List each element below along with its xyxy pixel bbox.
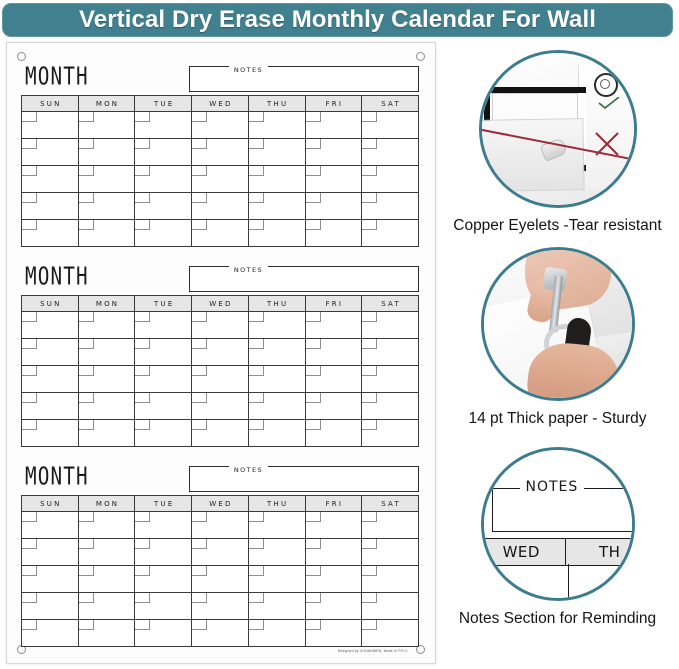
day-cell[interactable] <box>362 512 419 539</box>
date-number-box <box>306 193 321 203</box>
day-cell[interactable] <box>192 312 249 339</box>
day-cell[interactable] <box>362 339 419 366</box>
date-number-box <box>249 139 264 149</box>
date-number-box <box>362 512 377 522</box>
day-cell[interactable] <box>305 166 362 193</box>
day-cell[interactable] <box>362 393 419 420</box>
day-header-sun: SUN <box>22 496 79 512</box>
month-label: MONTH <box>25 462 89 490</box>
calendar-grid: SUN MON TUE WED THU FRI SAT <box>21 95 419 247</box>
day-header-thu: THU <box>248 96 305 112</box>
date-number-box <box>306 112 321 122</box>
date-number-box <box>135 593 150 603</box>
date-number-box <box>249 393 264 403</box>
day-cell[interactable] <box>362 620 419 647</box>
date-number-box <box>249 593 264 603</box>
day-cell[interactable] <box>248 166 305 193</box>
date-number-box <box>306 539 321 549</box>
date-number-box <box>362 420 377 430</box>
day-cell[interactable] <box>135 193 192 220</box>
date-number-box <box>306 566 321 576</box>
date-number-box <box>249 339 264 349</box>
week-row <box>22 193 419 220</box>
day-cell[interactable] <box>362 593 419 620</box>
notes-label: NOTES <box>229 266 268 274</box>
date-number-box <box>22 112 37 122</box>
day-cell[interactable] <box>362 366 419 393</box>
date-number-box <box>22 193 37 203</box>
day-header-tue: TUE <box>135 296 192 312</box>
week-row <box>22 620 419 647</box>
day-cell[interactable] <box>78 166 135 193</box>
day-cell[interactable] <box>78 312 135 339</box>
date-number-box <box>22 539 37 549</box>
day-cell[interactable] <box>78 566 135 593</box>
feature-caption: Copper Eyelets -Tear resistant <box>436 217 679 235</box>
date-number-box <box>306 393 321 403</box>
day-cell[interactable] <box>248 220 305 247</box>
eyelet-icon <box>416 52 425 61</box>
day-cell[interactable] <box>78 539 135 566</box>
date-number-box <box>135 539 150 549</box>
product-listing-image: Vertical Dry Erase Monthly Calendar For … <box>0 0 679 669</box>
day-header-sat: SAT <box>362 296 419 312</box>
day-cell[interactable] <box>305 539 362 566</box>
month-block: MONTH NOTES SUN MON TUE WED THU FRI SAT <box>21 461 419 647</box>
day-cell[interactable] <box>135 593 192 620</box>
day-cell[interactable] <box>22 593 79 620</box>
day-cell[interactable] <box>135 139 192 166</box>
date-number-box <box>192 566 207 576</box>
day-cell[interactable] <box>192 112 249 139</box>
date-number-box <box>362 312 377 322</box>
date-number-box <box>22 420 37 430</box>
day-header-thu: THU <box>248 496 305 512</box>
day-cell[interactable] <box>248 339 305 366</box>
date-number-box <box>79 420 94 430</box>
date-number-box <box>22 566 37 576</box>
day-cell[interactable] <box>78 420 135 447</box>
grid-divider <box>568 564 570 600</box>
date-number-box <box>249 539 264 549</box>
day-cell[interactable] <box>192 566 249 593</box>
date-number-box <box>135 420 150 430</box>
day-cell[interactable] <box>192 193 249 220</box>
calendar-body <box>22 512 419 647</box>
day-cell[interactable] <box>248 112 305 139</box>
notes-box: NOTES <box>189 66 419 92</box>
week-row <box>22 166 419 193</box>
day-cell[interactable] <box>192 366 249 393</box>
day-cell[interactable] <box>192 620 249 647</box>
date-number-box <box>135 220 150 230</box>
feature-image-notes-section: NOTES WED TH <box>481 447 635 601</box>
date-number-box <box>249 566 264 576</box>
date-number-box <box>22 339 37 349</box>
date-number-box <box>362 112 377 122</box>
date-number-box <box>362 566 377 576</box>
day-cell[interactable] <box>362 539 419 566</box>
date-number-box <box>306 220 321 230</box>
date-number-box <box>192 512 207 522</box>
day-cell[interactable] <box>248 620 305 647</box>
day-cell[interactable] <box>135 366 192 393</box>
day-cell[interactable] <box>305 112 362 139</box>
date-number-box <box>249 512 264 522</box>
notes-box: NOTES <box>189 266 419 292</box>
date-number-box <box>306 512 321 522</box>
zoom-day-cell-wed: WED <box>481 539 567 565</box>
month-block-header: MONTH NOTES <box>21 461 419 493</box>
date-number-box <box>306 139 321 149</box>
notes-label: NOTES <box>229 466 268 474</box>
date-number-box <box>362 166 377 176</box>
date-number-box <box>79 166 94 176</box>
day-cell[interactable] <box>362 566 419 593</box>
date-number-box <box>362 339 377 349</box>
day-cell[interactable] <box>22 220 79 247</box>
week-row <box>22 512 419 539</box>
day-cell[interactable] <box>305 193 362 220</box>
month-block-header: MONTH NOTES <box>21 61 419 93</box>
day-cell[interactable] <box>305 593 362 620</box>
day-cell[interactable] <box>362 312 419 339</box>
date-number-box <box>192 539 207 549</box>
date-number-box <box>135 166 150 176</box>
date-number-box <box>135 620 150 630</box>
day-cell[interactable] <box>362 139 419 166</box>
date-number-box <box>306 593 321 603</box>
title-banner: Vertical Dry Erase Monthly Calendar For … <box>2 3 673 37</box>
calendar-grid: SUN MON TUE WED THU FRI SAT <box>21 495 419 647</box>
zoom-notes-label: NOTES <box>520 479 585 495</box>
day-cell[interactable] <box>135 393 192 420</box>
date-number-box <box>192 220 207 230</box>
day-cell[interactable] <box>248 366 305 393</box>
day-cell[interactable] <box>305 393 362 420</box>
zoom-day-header-row: WED TH <box>481 538 635 566</box>
day-cell[interactable] <box>305 620 362 647</box>
day-header-sun: SUN <box>22 296 79 312</box>
day-cell[interactable] <box>135 512 192 539</box>
week-row <box>22 593 419 620</box>
date-number-box <box>306 420 321 430</box>
day-cell[interactable] <box>248 593 305 620</box>
feature-thick-paper: 14 pt Thick paper - Sturdy <box>436 247 679 428</box>
notes-label: NOTES <box>229 66 268 74</box>
date-number-box <box>79 339 94 349</box>
day-header-row: SUN MON TUE WED THU FRI SAT <box>22 96 419 112</box>
feature-column: Copper Eyelets -Tear resistant 14 pt Thi… <box>436 42 679 662</box>
day-header-sun: SUN <box>22 96 79 112</box>
day-cell[interactable] <box>78 339 135 366</box>
calendar-poster: MONTH NOTES SUN MON TUE WED THU FRI SAT <box>6 42 436 664</box>
calendar-body <box>22 112 419 247</box>
feature-caption: 14 pt Thick paper - Sturdy <box>436 410 679 428</box>
day-cell[interactable] <box>305 339 362 366</box>
day-header-wed: WED <box>192 96 249 112</box>
date-number-box <box>192 166 207 176</box>
day-cell[interactable] <box>305 420 362 447</box>
month-block-header: MONTH NOTES <box>21 261 419 293</box>
week-row <box>22 220 419 247</box>
day-cell[interactable] <box>248 139 305 166</box>
week-row <box>22 366 419 393</box>
week-row <box>22 339 419 366</box>
date-number-box <box>362 539 377 549</box>
day-cell[interactable] <box>135 220 192 247</box>
day-cell[interactable] <box>78 366 135 393</box>
date-number-box <box>79 312 94 322</box>
date-number-box <box>22 312 37 322</box>
date-number-box <box>192 312 207 322</box>
date-number-box <box>135 112 150 122</box>
date-number-box <box>249 112 264 122</box>
week-row <box>22 112 419 139</box>
day-cell[interactable] <box>22 112 79 139</box>
date-number-box <box>135 393 150 403</box>
day-cell[interactable] <box>192 139 249 166</box>
feature-copper-eyelets: Copper Eyelets -Tear resistant <box>436 50 679 235</box>
date-number-box <box>362 366 377 376</box>
day-cell[interactable] <box>22 312 79 339</box>
day-cell[interactable] <box>135 112 192 139</box>
day-cell[interactable] <box>135 312 192 339</box>
day-cell[interactable] <box>22 166 79 193</box>
date-number-box <box>135 366 150 376</box>
date-number-box <box>306 366 321 376</box>
date-number-box <box>192 393 207 403</box>
day-header-thu: THU <box>248 296 305 312</box>
day-cell[interactable] <box>192 593 249 620</box>
day-cell[interactable] <box>248 512 305 539</box>
day-cell[interactable] <box>135 339 192 366</box>
day-cell[interactable] <box>22 539 79 566</box>
date-number-box <box>249 620 264 630</box>
day-cell[interactable] <box>22 193 79 220</box>
date-number-box <box>249 166 264 176</box>
date-number-box <box>192 620 207 630</box>
day-cell[interactable] <box>135 620 192 647</box>
day-header-fri: FRI <box>305 96 362 112</box>
day-header-tue: TUE <box>135 496 192 512</box>
day-cell[interactable] <box>248 566 305 593</box>
day-cell[interactable] <box>192 512 249 539</box>
date-number-box <box>192 339 207 349</box>
day-cell[interactable] <box>135 420 192 447</box>
date-number-box <box>22 512 37 522</box>
date-number-box <box>192 366 207 376</box>
month-block: MONTH NOTES SUN MON TUE WED THU FRI SAT <box>21 261 419 447</box>
date-number-box <box>362 220 377 230</box>
footer-credit: Designed by XUHANWEN. Made in P.R.C. <box>338 649 409 653</box>
date-number-box <box>135 139 150 149</box>
day-header-fri: FRI <box>305 496 362 512</box>
date-number-box <box>362 593 377 603</box>
day-cell[interactable] <box>248 539 305 566</box>
feature-image-thick-paper <box>481 247 635 401</box>
day-cell[interactable] <box>78 593 135 620</box>
date-number-box <box>22 366 37 376</box>
date-number-box <box>362 393 377 403</box>
day-cell[interactable] <box>192 220 249 247</box>
date-number-box <box>306 166 321 176</box>
date-number-box <box>306 339 321 349</box>
month-block: MONTH NOTES SUN MON TUE WED THU FRI SAT <box>21 61 419 247</box>
day-cell[interactable] <box>78 193 135 220</box>
date-number-box <box>22 620 37 630</box>
day-cell[interactable] <box>22 420 79 447</box>
day-header-row: SUN MON TUE WED THU FRI SAT <box>22 296 419 312</box>
day-cell[interactable] <box>78 112 135 139</box>
day-cell[interactable] <box>192 420 249 447</box>
date-number-box <box>135 312 150 322</box>
date-number-box <box>22 593 37 603</box>
day-cell[interactable] <box>135 166 192 193</box>
day-header-mon: MON <box>78 96 135 112</box>
week-row <box>22 393 419 420</box>
page-title: Vertical Dry Erase Monthly Calendar For … <box>79 6 596 34</box>
date-number-box <box>79 512 94 522</box>
day-header-fri: FRI <box>305 296 362 312</box>
date-number-box <box>135 339 150 349</box>
date-number-box <box>249 366 264 376</box>
feature-notes-section: NOTES WED TH Notes Section for Reminding <box>436 447 679 628</box>
week-row <box>22 312 419 339</box>
day-cell[interactable] <box>305 220 362 247</box>
feature-image-copper-eyelets <box>479 50 637 208</box>
day-cell[interactable] <box>248 193 305 220</box>
month-label: MONTH <box>25 262 89 290</box>
date-number-box <box>135 193 150 203</box>
date-number-box <box>306 620 321 630</box>
day-cell[interactable] <box>248 312 305 339</box>
date-number-box <box>22 166 37 176</box>
day-cell[interactable] <box>248 420 305 447</box>
notes-box: NOTES <box>189 466 419 492</box>
week-row <box>22 566 419 593</box>
date-number-box <box>192 112 207 122</box>
day-cell[interactable] <box>22 512 79 539</box>
day-cell[interactable] <box>305 566 362 593</box>
date-number-box <box>306 312 321 322</box>
day-cell[interactable] <box>22 393 79 420</box>
day-cell[interactable] <box>362 220 419 247</box>
week-row <box>22 420 419 447</box>
date-number-box <box>79 366 94 376</box>
day-cell[interactable] <box>22 339 79 366</box>
date-number-box <box>362 620 377 630</box>
day-cell[interactable] <box>305 139 362 166</box>
day-header-wed: WED <box>192 296 249 312</box>
calendar-grid: SUN MON TUE WED THU FRI SAT <box>21 295 419 447</box>
day-header-sat: SAT <box>362 96 419 112</box>
date-number-box <box>79 539 94 549</box>
day-header-row: SUN MON TUE WED THU FRI SAT <box>22 496 419 512</box>
calendar-body <box>22 312 419 447</box>
day-cell[interactable] <box>135 539 192 566</box>
date-number-box <box>249 193 264 203</box>
cross-icon <box>594 131 620 157</box>
day-header-sat: SAT <box>362 496 419 512</box>
date-number-box <box>249 420 264 430</box>
date-number-box <box>249 312 264 322</box>
day-cell[interactable] <box>192 166 249 193</box>
day-header-tue: TUE <box>135 96 192 112</box>
copper-eyelet-icon <box>594 73 618 97</box>
day-cell[interactable] <box>22 366 79 393</box>
day-header-mon: MON <box>78 496 135 512</box>
date-number-box <box>192 593 207 603</box>
date-number-box <box>79 139 94 149</box>
date-number-box <box>79 193 94 203</box>
date-number-box <box>79 220 94 230</box>
day-cell[interactable] <box>135 566 192 593</box>
day-cell[interactable] <box>78 393 135 420</box>
day-cell[interactable] <box>22 566 79 593</box>
check-icon <box>598 97 620 109</box>
day-cell[interactable] <box>362 112 419 139</box>
date-number-box <box>79 393 94 403</box>
day-cell[interactable] <box>22 139 79 166</box>
day-header-mon: MON <box>78 296 135 312</box>
day-cell[interactable] <box>22 620 79 647</box>
date-number-box <box>192 420 207 430</box>
date-number-box <box>135 512 150 522</box>
date-number-box <box>249 220 264 230</box>
zoom-day-cell-thu: TH <box>566 539 635 565</box>
day-cell[interactable] <box>362 193 419 220</box>
day-cell[interactable] <box>362 166 419 193</box>
date-number-box <box>22 139 37 149</box>
week-row <box>22 539 419 566</box>
feature-caption: Notes Section for Reminding <box>436 610 679 628</box>
day-cell[interactable] <box>192 339 249 366</box>
date-number-box <box>362 193 377 203</box>
date-number-box <box>22 393 37 403</box>
day-header-wed: WED <box>192 496 249 512</box>
day-cell[interactable] <box>305 312 362 339</box>
month-label: MONTH <box>25 62 89 90</box>
day-cell[interactable] <box>192 393 249 420</box>
day-cell[interactable] <box>192 539 249 566</box>
day-cell[interactable] <box>78 512 135 539</box>
date-number-box <box>135 566 150 576</box>
date-number-box <box>192 193 207 203</box>
date-number-box <box>79 593 94 603</box>
week-row <box>22 139 419 166</box>
paper-sheet <box>479 118 585 192</box>
date-number-box <box>79 620 94 630</box>
date-number-box <box>79 566 94 576</box>
day-cell[interactable] <box>78 139 135 166</box>
date-number-box <box>22 220 37 230</box>
day-cell[interactable] <box>362 420 419 447</box>
eyelet-icon <box>17 52 26 61</box>
day-cell[interactable] <box>248 393 305 420</box>
date-number-box <box>79 112 94 122</box>
day-cell[interactable] <box>78 220 135 247</box>
day-cell[interactable] <box>305 512 362 539</box>
date-number-box <box>362 139 377 149</box>
day-cell[interactable] <box>305 366 362 393</box>
day-cell[interactable] <box>78 620 135 647</box>
date-number-box <box>192 139 207 149</box>
